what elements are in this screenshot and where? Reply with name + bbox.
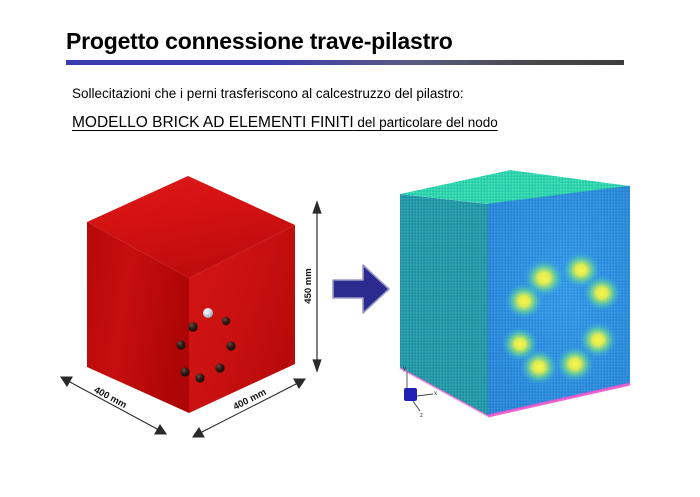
dowel-pin [215,363,224,372]
dowel-pin [226,341,235,350]
fem-mesh-svg: y x z [392,168,662,468]
subtitle-line-1: Sollecitazioni che i perni trasferiscono… [72,86,464,101]
axis-triad-z-line [413,401,420,411]
dowel-pin [203,308,213,318]
title-underline-rule [66,60,624,65]
subtitle-line-2: MODELLO BRICK AD ELEMENTI FINITI del par… [72,114,498,132]
axis-triad-x-line [417,394,433,396]
slide-canvas: Progetto connessione trave-pilastro Soll… [0,0,700,497]
dowel-pin [222,317,231,326]
dimension-label-400-left: 400 mm [92,385,128,411]
stress-hotspot [501,326,539,362]
transform-arrow-icon [330,258,392,320]
page-title: Progetto connessione trave-pilastro [66,26,626,56]
solid-cube-figure: 450 mm 400 mm 400 mm [55,168,345,468]
axis-label-y: y [403,366,406,372]
dowel-pin [176,340,185,349]
fem-left-face [400,194,488,416]
fem-front-face [488,186,630,416]
subtitle-line-2-rest: del particolare del nodo [354,115,498,130]
axis-label-z: z [420,413,423,419]
stress-hotspot [582,274,622,312]
dimension-vertical-450 [313,202,321,371]
axis-triad-origin-cube [404,388,417,401]
transform-arrow [330,258,392,320]
stress-hotspot [555,345,595,383]
fem-mesh-figure: y x z [392,168,662,468]
dowel-pin [180,367,189,376]
dowel-pin [188,322,198,332]
solid-cube-svg: 450 mm 400 mm 400 mm [55,168,345,468]
stress-hotspot [504,282,544,320]
axis-label-x: x [434,391,437,397]
subtitle-line-2-caps: MODELLO BRICK AD ELEMENTI FINITI [72,114,354,131]
title-block: Progetto connessione trave-pilastro [66,26,626,65]
dimension-label-450: 450 mm [303,268,314,303]
dowel-pin [195,373,204,382]
